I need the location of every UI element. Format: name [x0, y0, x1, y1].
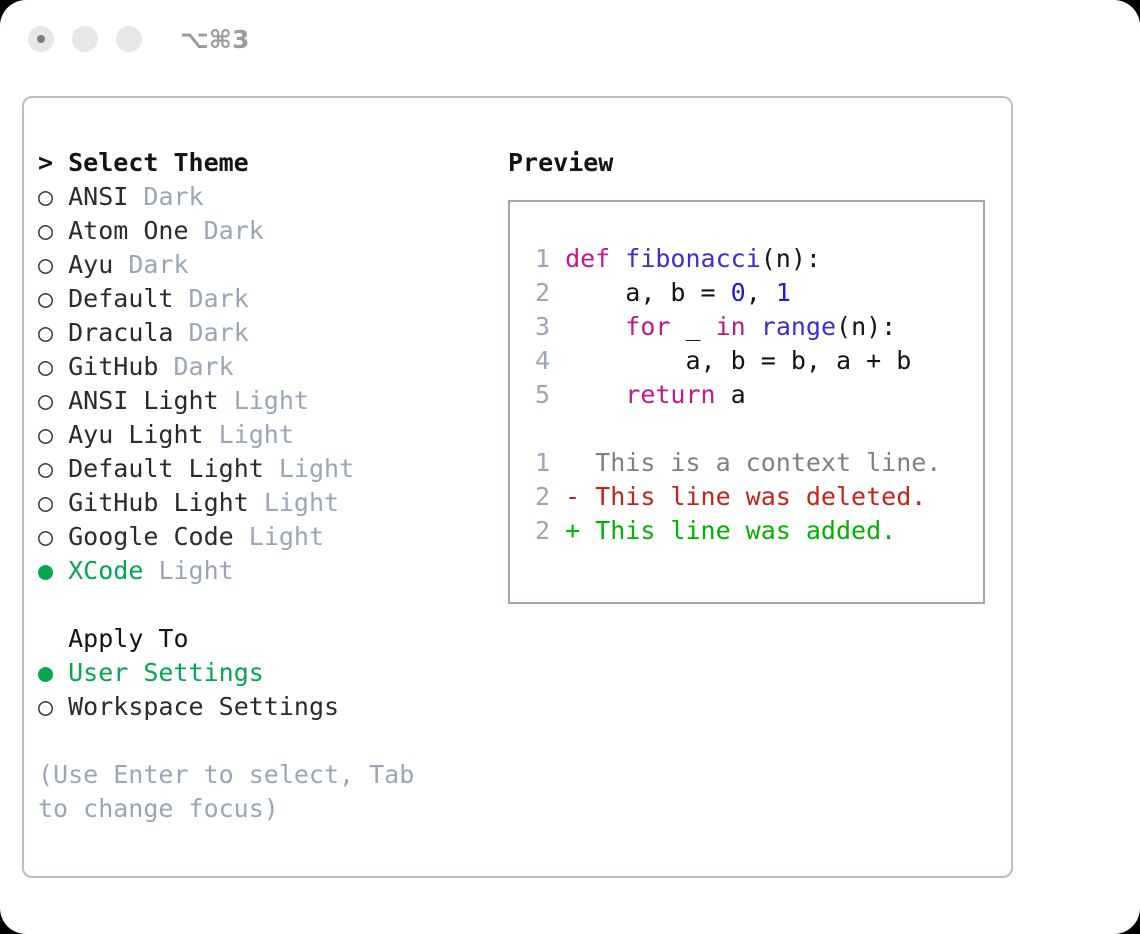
theme-option-github[interactable]: ○ GitHub Dark — [38, 350, 494, 384]
theme-option-label: Dracula — [68, 318, 173, 347]
preview-panel: 1 def fibonacci(n):2 a, b = 0, 13 for _ … — [508, 200, 985, 604]
window-controls — [28, 26, 142, 52]
theme-option-list: ○ ANSI Dark○ Atom One Dark○ Ayu Dark○ De… — [38, 180, 494, 588]
theme-variant-badge: Dark — [204, 216, 264, 245]
heading-label: Select Theme — [68, 148, 249, 177]
active-indicator-dot — [37, 35, 45, 43]
code-token: + This line was added. — [565, 516, 896, 545]
theme-selector-column: > Select Theme ○ ANSI Dark○ Atom One Dar… — [24, 98, 494, 876]
code-token: for — [625, 312, 670, 341]
radio-unselected-icon[interactable]: ○ — [38, 692, 53, 721]
theme-option-label: GitHub Light — [68, 488, 249, 517]
line-number: 4 — [522, 344, 550, 378]
radio-unselected-icon[interactable]: ○ — [38, 488, 53, 517]
theme-option-ayu[interactable]: ○ Ayu Dark — [38, 248, 494, 282]
section-spacer — [38, 588, 494, 622]
radio-unselected-icon[interactable]: ○ — [38, 386, 53, 415]
radio-unselected-icon[interactable]: ○ — [38, 250, 53, 279]
radio-unselected-icon[interactable]: ○ — [38, 522, 53, 551]
keyboard-hint-text: (Use Enter to select, Tab to change focu… — [38, 758, 448, 826]
radio-selected-icon[interactable]: ● — [38, 658, 53, 687]
radio-unselected-icon[interactable]: ○ — [38, 352, 53, 381]
code-token — [565, 380, 625, 409]
radio-unselected-icon[interactable]: ○ — [38, 318, 53, 347]
theme-variant-badge: Dark — [189, 284, 249, 313]
apply-to-option-workspace-settings[interactable]: ○ Workspace Settings — [38, 690, 494, 724]
theme-variant-badge: Light — [264, 488, 339, 517]
theme-variant-badge: Dark — [189, 318, 249, 347]
theme-option-ansi[interactable]: ○ ANSI Dark — [38, 180, 494, 214]
theme-variant-badge: Dark — [174, 352, 234, 381]
apply-to-option-user-settings[interactable]: ● User Settings — [38, 656, 494, 690]
theme-option-dracula[interactable]: ○ Dracula Dark — [38, 316, 494, 350]
diff-sample-line: 1 This is a context line. — [522, 446, 983, 480]
code-token: return — [625, 380, 715, 409]
theme-variant-badge: Light — [158, 556, 233, 585]
line-number: 1 — [522, 446, 550, 480]
radio-unselected-icon[interactable]: ○ — [38, 420, 53, 449]
window-control-dot-2[interactable] — [72, 26, 98, 52]
line-number: 2 — [522, 276, 550, 310]
code-token: a, b = b, a + b — [565, 346, 911, 375]
code-sample-line: 1 def fibonacci(n): — [522, 242, 983, 276]
code-token: in — [716, 312, 746, 341]
code-token: def — [565, 244, 610, 273]
theme-option-default[interactable]: ○ Default Dark — [38, 282, 494, 316]
line-number: 2 — [522, 480, 550, 514]
code-token: a — [716, 380, 746, 409]
theme-variant-badge: Dark — [128, 250, 188, 279]
theme-option-label: XCode — [68, 556, 143, 585]
code-token: This is a context line. — [565, 448, 941, 477]
code-token: (n): — [836, 312, 896, 341]
code-diff-spacer — [522, 412, 983, 446]
code-token: a, b = — [565, 278, 731, 307]
code-token — [565, 312, 625, 341]
theme-variant-badge: Light — [234, 386, 309, 415]
theme-variant-badge: Light — [279, 454, 354, 483]
main-panel: > Select Theme ○ ANSI Dark○ Atom One Dar… — [22, 96, 1013, 878]
theme-option-atom-one[interactable]: ○ Atom One Dark — [38, 214, 494, 248]
keyboard-shortcut-label: ⌥⌘3 — [180, 25, 249, 54]
code-token: _ — [670, 312, 715, 341]
theme-option-label: Ayu — [68, 250, 113, 279]
window-control-dot-active[interactable] — [28, 26, 54, 52]
theme-option-label: Default — [68, 284, 173, 313]
line-number: 3 — [522, 310, 550, 344]
code-token — [610, 244, 625, 273]
app-window: ⌥⌘3 > Select Theme ○ ANSI Dark○ Atom One… — [0, 0, 1140, 934]
line-number: 2 — [522, 514, 550, 548]
theme-option-label: ANSI — [68, 182, 128, 211]
diff-sample-line: 2 + This line was added. — [522, 514, 983, 548]
radio-unselected-icon[interactable]: ○ — [38, 182, 53, 211]
apply-to-option-label: Workspace Settings — [68, 692, 339, 721]
theme-option-xcode[interactable]: ● XCode Light — [38, 554, 494, 588]
theme-option-google-code[interactable]: ○ Google Code Light — [38, 520, 494, 554]
apply-to-heading: Apply To — [38, 622, 494, 656]
diff-sample-block: 1 This is a context line.2 - This line w… — [522, 446, 983, 548]
theme-option-label: Ayu Light — [68, 420, 203, 449]
code-token: fibonacci — [625, 244, 760, 273]
theme-option-ansi-light[interactable]: ○ ANSI Light Light — [38, 384, 494, 418]
theme-option-github-light[interactable]: ○ GitHub Light Light — [38, 486, 494, 520]
apply-to-option-label: User Settings — [68, 658, 264, 687]
code-token: (n): — [761, 244, 821, 273]
code-token: - This line was deleted. — [565, 482, 926, 511]
theme-variant-badge: Light — [219, 420, 294, 449]
code-sample-line: 2 a, b = 0, 1 — [522, 276, 983, 310]
code-token: 1 — [776, 278, 791, 307]
window-control-dot-3[interactable] — [116, 26, 142, 52]
theme-option-label: GitHub — [68, 352, 158, 381]
theme-variant-badge: Light — [249, 522, 324, 551]
theme-option-default-light[interactable]: ○ Default Light Light — [38, 452, 494, 486]
radio-unselected-icon[interactable]: ○ — [38, 216, 53, 245]
code-sample-line: 4 a, b = b, a + b — [522, 344, 983, 378]
title-bar: ⌥⌘3 — [0, 0, 1140, 78]
apply-to-label: Apply To — [68, 624, 188, 653]
preview-heading: Preview — [508, 146, 1011, 180]
theme-option-label: ANSI Light — [68, 386, 219, 415]
line-number: 1 — [522, 242, 550, 276]
code-token: 0 — [731, 278, 746, 307]
line-number: 5 — [522, 378, 550, 412]
code-token — [746, 312, 761, 341]
diff-sample-line: 2 - This line was deleted. — [522, 480, 983, 514]
theme-option-ayu-light[interactable]: ○ Ayu Light Light — [38, 418, 494, 452]
code-sample-line: 3 for _ in range(n): — [522, 310, 983, 344]
preview-column: Preview 1 def fibonacci(n):2 a, b = 0, 1… — [494, 98, 1011, 876]
radio-selected-icon[interactable]: ● — [38, 556, 53, 585]
code-token: , — [746, 278, 776, 307]
select-theme-heading: > Select Theme — [38, 146, 494, 180]
code-token: range — [761, 312, 836, 341]
theme-option-label: Google Code — [68, 522, 234, 551]
theme-variant-badge: Dark — [143, 182, 203, 211]
apply-to-option-list: ● User Settings○ Workspace Settings — [38, 656, 494, 724]
theme-option-label: Default Light — [68, 454, 264, 483]
radio-unselected-icon[interactable]: ○ — [38, 454, 53, 483]
heading-prompt-prefix: > — [38, 148, 68, 177]
code-sample-line: 5 return a — [522, 378, 983, 412]
code-sample-block: 1 def fibonacci(n):2 a, b = 0, 13 for _ … — [522, 242, 983, 412]
radio-unselected-icon[interactable]: ○ — [38, 284, 53, 313]
theme-option-label: Atom One — [68, 216, 188, 245]
